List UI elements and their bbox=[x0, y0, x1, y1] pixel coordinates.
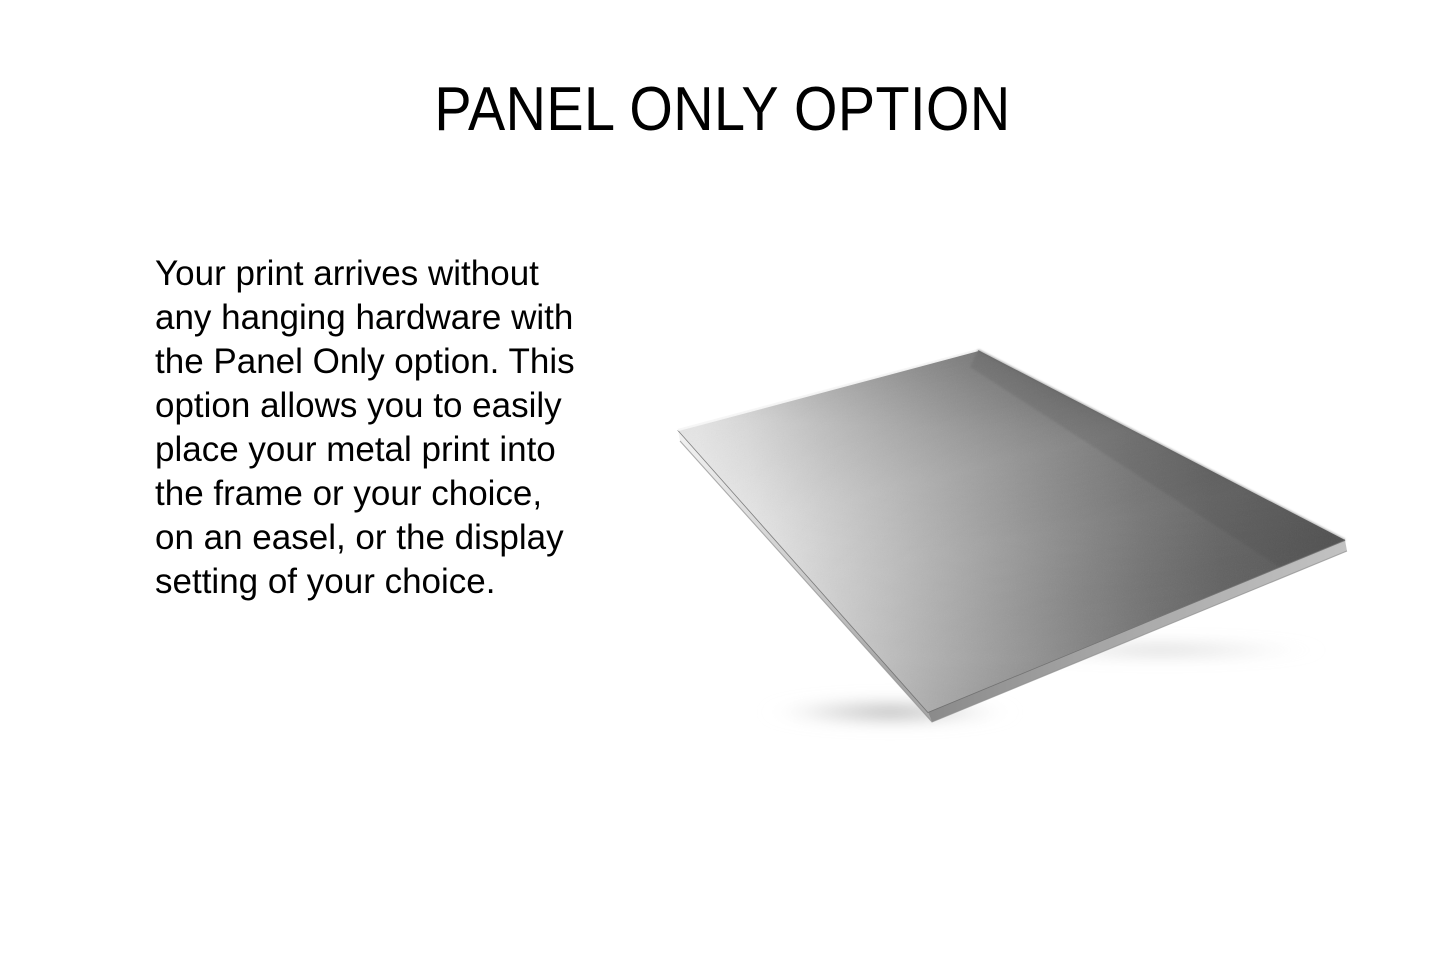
metal-panel-illustration bbox=[640, 320, 1380, 750]
page-title: PANEL ONLY OPTION bbox=[72, 74, 1373, 146]
slide-canvas: PANEL ONLY OPTION Your print arrives wit… bbox=[0, 0, 1445, 963]
body-paragraph: Your print arrives without any hanging h… bbox=[155, 252, 585, 604]
